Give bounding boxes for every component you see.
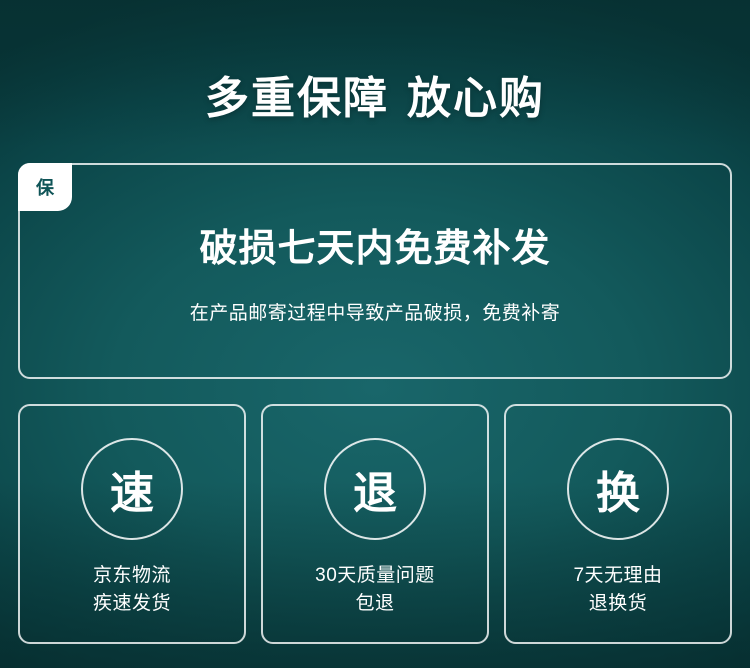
exchange-circle-icon: 换	[567, 438, 669, 540]
feature-caption-line2: 包退	[315, 590, 435, 618]
feature-caption-line1: 30天质量问题	[315, 562, 435, 590]
feature-caption-line1: 7天无理由	[573, 562, 662, 590]
feature-caption-line1: 京东物流	[93, 562, 171, 590]
fast-shipping-circle-icon: 速	[81, 438, 183, 540]
feature-card-fast-shipping: 速 京东物流 疾速发货	[18, 404, 246, 644]
page-title-part2: 放心购	[407, 74, 545, 123]
feature-caption-return: 30天质量问题 包退	[315, 562, 435, 617]
feature-card-return: 退 30天质量问题 包退	[261, 404, 489, 644]
return-circle-icon: 退	[324, 438, 426, 540]
feature-card-exchange: 换 7天无理由 退换货	[504, 404, 732, 644]
promo-banner: 多重保障放心购 保 破损七天内免费补发 在产品邮寄过程中导致产品破损，免费补寄 …	[0, 0, 750, 668]
feature-caption-exchange: 7天无理由 退换货	[573, 562, 662, 617]
guarantee-badge: 保	[18, 163, 72, 211]
guarantee-card: 保 破损七天内免费补发 在产品邮寄过程中导致产品破损，免费补寄	[18, 163, 732, 379]
guarantee-subtext: 在产品邮寄过程中导致产品破损，免费补寄	[20, 298, 730, 325]
feature-card-list: 速 京东物流 疾速发货 退 30天质量问题 包退 换 7天无理由 退换货	[18, 404, 732, 644]
page-title-part1: 多重保障	[205, 74, 389, 123]
guarantee-headline: 破损七天内免费补发	[20, 217, 730, 272]
feature-caption-line2: 疾速发货	[93, 590, 171, 618]
feature-caption-line2: 退换货	[573, 590, 662, 618]
feature-caption-fast-shipping: 京东物流 疾速发货	[93, 562, 171, 617]
page-title: 多重保障放心购	[0, 0, 750, 126]
